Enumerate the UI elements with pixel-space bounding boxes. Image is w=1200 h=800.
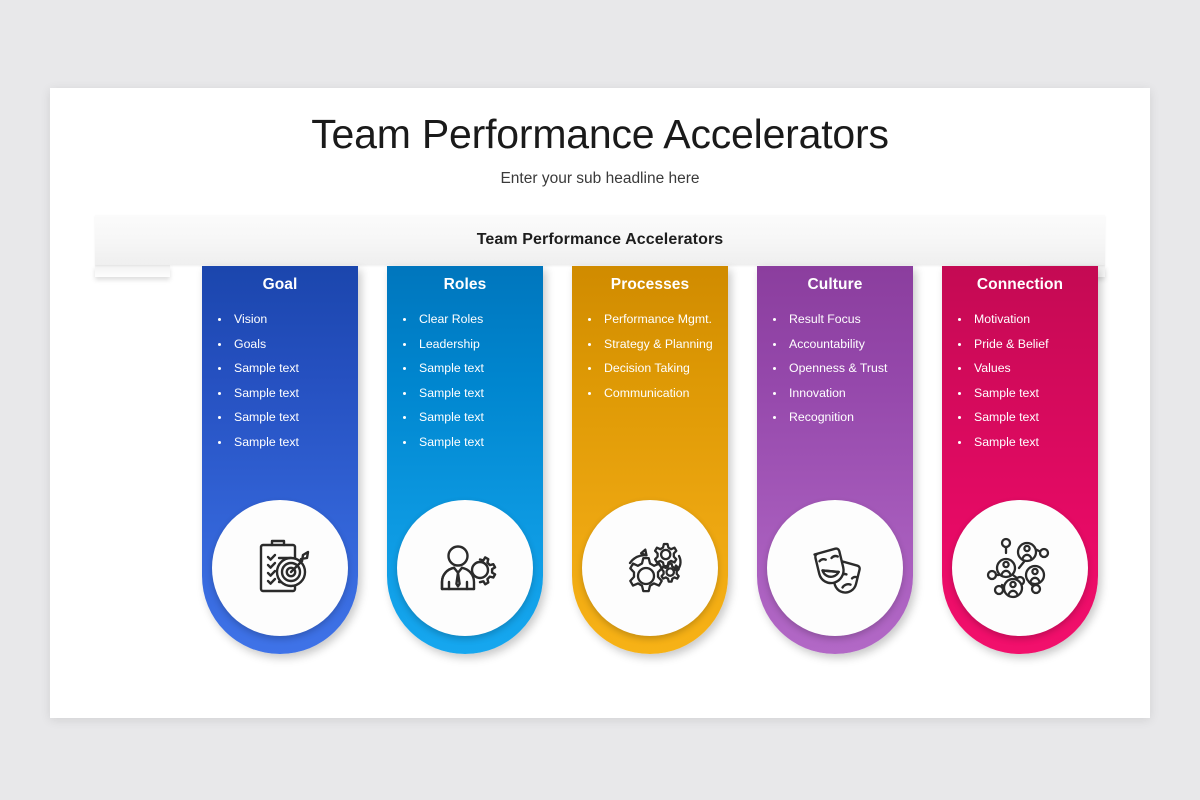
column-goal-icon-bubble [212, 500, 348, 636]
list-item: Sample text [399, 356, 539, 381]
list-item: Sample text [399, 405, 539, 430]
list-item: Sample text [399, 430, 539, 455]
column-goal[interactable]: Goal Vision Goals Sample text Sample tex… [202, 266, 358, 654]
column-roles-bullets: Clear Roles Leadership Sample text Sampl… [387, 294, 543, 455]
list-item: Performance Mgmt. [584, 307, 724, 332]
list-item: Accountability [769, 332, 909, 357]
list-item: Sample text [954, 430, 1094, 455]
column-culture-heading: Culture [757, 266, 913, 294]
list-item: Recognition [769, 405, 909, 430]
column-culture[interactable]: Culture Result Focus Accountability Open… [757, 266, 913, 654]
people-network-icon [982, 530, 1058, 606]
column-connection-heading: Connection [942, 266, 1098, 294]
list-item: Sample text [214, 381, 354, 406]
person-gear-icon [428, 531, 502, 605]
list-item: Pride & Belief [954, 332, 1094, 357]
list-item: Values [954, 356, 1094, 381]
list-item: Sample text [214, 430, 354, 455]
list-item: Leadership [399, 332, 539, 357]
list-item: Strategy & Planning [584, 332, 724, 357]
list-item: Openness & Trust [769, 356, 909, 381]
list-item: Result Focus [769, 307, 909, 332]
list-item: Communication [584, 381, 724, 406]
list-item: Sample text [954, 381, 1094, 406]
list-item: Vision [214, 307, 354, 332]
column-roles[interactable]: Roles Clear Roles Leadership Sample text… [387, 266, 543, 654]
column-culture-icon-bubble [767, 500, 903, 636]
column-processes-icon-bubble [582, 500, 718, 636]
column-culture-bullets: Result Focus Accountability Openness & T… [757, 294, 913, 430]
slide-canvas: Team Performance Accelerators Enter your… [0, 0, 1200, 800]
list-item: Sample text [954, 405, 1094, 430]
list-item: Sample text [214, 356, 354, 381]
list-item: Sample text [214, 405, 354, 430]
column-roles-heading: Roles [387, 266, 543, 294]
theater-masks-icon [797, 530, 873, 606]
column-connection-icon-bubble [952, 500, 1088, 636]
list-item: Decision Taking [584, 356, 724, 381]
column-processes[interactable]: Processes Performance Mgmt. Strategy & P… [572, 266, 728, 654]
column-processes-bullets: Performance Mgmt. Strategy & Planning De… [572, 294, 728, 405]
gears-cycle-icon [612, 530, 688, 606]
column-group: Goal Vision Goals Sample text Sample tex… [50, 88, 1150, 718]
list-item: Innovation [769, 381, 909, 406]
list-item: Motivation [954, 307, 1094, 332]
column-processes-heading: Processes [572, 266, 728, 294]
column-connection-bullets: Motivation Pride & Belief Values Sample … [942, 294, 1098, 455]
column-roles-icon-bubble [397, 500, 533, 636]
column-goal-heading: Goal [202, 266, 358, 294]
column-goal-bullets: Vision Goals Sample text Sample text Sam… [202, 294, 358, 455]
presentation-slide: Team Performance Accelerators Enter your… [50, 88, 1150, 718]
clipboard-target-icon [243, 531, 317, 605]
column-connection[interactable]: Connection Motivation Pride & Belief Val… [942, 266, 1098, 654]
list-item: Goals [214, 332, 354, 357]
list-item: Clear Roles [399, 307, 539, 332]
list-item: Sample text [399, 381, 539, 406]
